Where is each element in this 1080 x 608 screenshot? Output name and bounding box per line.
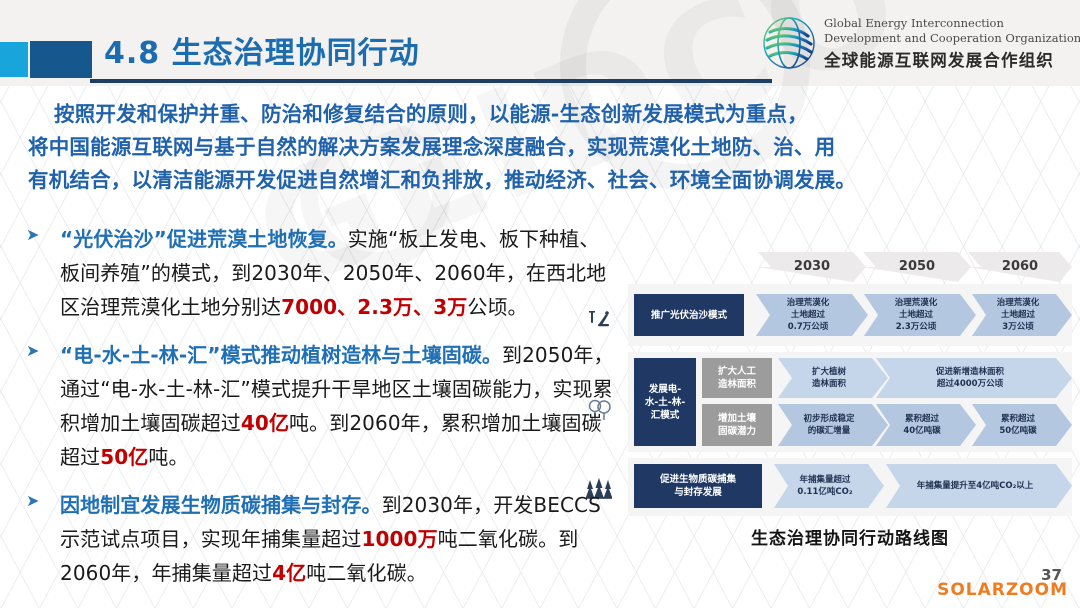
roadmap-step-chevron: 治理荒漠化土地超过0.7万公顷	[756, 294, 868, 336]
roadmap-row-label: 促进生物质碳捕集与封存发展	[634, 464, 762, 508]
year-label: 2050	[863, 257, 971, 277]
bullet-arrow-icon: ➤	[26, 343, 39, 359]
year-label: 2060	[968, 257, 1072, 277]
bullet-segment-red: 4亿	[272, 561, 306, 585]
intro-line-1: 按照开发和保护并重、防治和修复结合的原则，以能源-生态创新发展模式为重点，	[28, 98, 1056, 131]
bullet-segment-blue: “电-水-土-林-汇”模式推动植树造林与土壤固碳。	[60, 343, 502, 367]
roadmap-step-chevron: 累积超过40亿吨碳	[876, 404, 976, 446]
bullet-text: “光伏治沙”促进荒漠土地恢复。实施“板上发电、板下种植、板间养殖”的模式，到20…	[60, 222, 614, 324]
roadmap-row-label: 发展电-水-土-林-汇模式	[634, 358, 696, 446]
roadmap-diagram: 203020502060 推广光伏治沙模式治理荒漠化土地超过0.7万公顷治理荒漠…	[628, 252, 1072, 552]
bullet-segment-plain: 吨。	[148, 445, 188, 469]
bullet-segment-plain: 公顷。	[467, 295, 527, 319]
intro-paragraph: 按照开发和保护并重、防治和修复结合的原则，以能源-生态创新发展模式为重点， 将中…	[28, 98, 1056, 197]
roadmap-step-chevron: 促进新增造林面积超过4000万公顷	[876, 358, 1072, 398]
roadmap-step-chevron: 治理荒漠化土地超过3万公顷	[972, 294, 1072, 336]
roadmap-step-chevron: 年捕集量提升至4亿吨CO₂以上	[886, 464, 1072, 508]
bullet-segment-blue: “光伏治沙”促进荒漠土地恢复。	[60, 227, 348, 251]
title-accent-navy	[30, 41, 92, 78]
diagram-caption: 生态治理协同行动路线图	[628, 524, 1072, 549]
bullet-arrow-icon: ➤	[26, 493, 39, 509]
page-title: 4.8 生态治理协同行动	[104, 28, 420, 72]
year-label: 2030	[758, 257, 866, 277]
logo-text-line2: Development and Cooperation Organization	[824, 31, 1080, 45]
bullet-item: ➤“光伏治沙”促进荒漠土地恢复。实施“板上发电、板下种植、板间养殖”的模式，到2…	[24, 222, 614, 324]
bullet-item: ➤“电-水-土-林-汇”模式推动植树造林与土壤固碳。到2050年，通过“电-水-…	[24, 338, 614, 474]
bullet-segment-red: 40亿	[241, 411, 289, 435]
bullet-segment-red: 1000万	[362, 527, 438, 551]
title-accent-cyan	[0, 42, 28, 77]
bullet-segment-plain: 吨二氧化碳。	[306, 561, 427, 585]
bullet-segment-red: 50亿	[100, 445, 148, 469]
intro-line-3: 有机结合，以清洁能源开发促进自然增汇和负排放，推动经济、社会、环境全面协调发展。	[28, 164, 1056, 197]
intro-line-2: 将中国能源互联网与基于自然的解决方案发展理念深度融合，实现荒漠化土地防、治、用	[28, 131, 1056, 164]
logo-text-chinese: 全球能源互联网发展合作组织	[824, 47, 1054, 71]
title-divider	[90, 79, 772, 83]
diagram-year-header: 203020502060	[628, 252, 1072, 282]
bullet-arrow-icon: ➤	[26, 227, 39, 243]
bullet-segment-red: 7000、2.3万、3万	[281, 295, 467, 319]
roadmap-sublabel: 扩大人工造林面积	[702, 358, 772, 398]
roadmap-step-chevron: 初步形成稳定的碳汇增量	[778, 404, 888, 446]
logo-text-line1: Global Energy Interconnection	[824, 16, 1004, 30]
organization-logo: Global Energy Interconnection Developmen…	[762, 12, 1070, 74]
roadmap-step-chevron: 年捕集量超过0.11亿吨CO₂	[774, 464, 884, 508]
roadmap-step-chevron: 累积超过50亿吨碳	[972, 404, 1072, 446]
globe-logo-icon	[762, 16, 816, 70]
bullet-list: ➤“光伏治沙”促进荒漠土地恢复。实施“板上发电、板下种植、板间养殖”的模式，到2…	[24, 222, 614, 604]
slide-header: 4.8 生态治理协同行动 Global Ene	[0, 0, 1080, 90]
roadmap-row-label: 推广光伏治沙模式	[634, 294, 744, 336]
bullet-item: ➤因地制宜发展生物质碳捕集与封存。到2030年，开发BECCS示范试点项目，实现…	[24, 488, 614, 590]
bullet-text: 因地制宜发展生物质碳捕集与封存。到2030年，开发BECCS示范试点项目，实现年…	[60, 488, 614, 590]
roadmap-step-chevron: 治理荒漠化土地超过2.3万公顷	[864, 294, 976, 336]
bullet-text: “电-水-土-林-汇”模式推动植树造林与土壤固碳。到2050年，通过“电-水-土…	[60, 338, 614, 474]
solarzoom-watermark: SOLARZOOM	[937, 580, 1068, 600]
roadmap-step-chevron: 扩大植树造林面积	[778, 358, 888, 398]
bullet-segment-blue: 因地制宜发展生物质碳捕集与封存。	[60, 493, 382, 517]
roadmap-sublabel: 增加土壤固碳潜力	[702, 404, 772, 446]
